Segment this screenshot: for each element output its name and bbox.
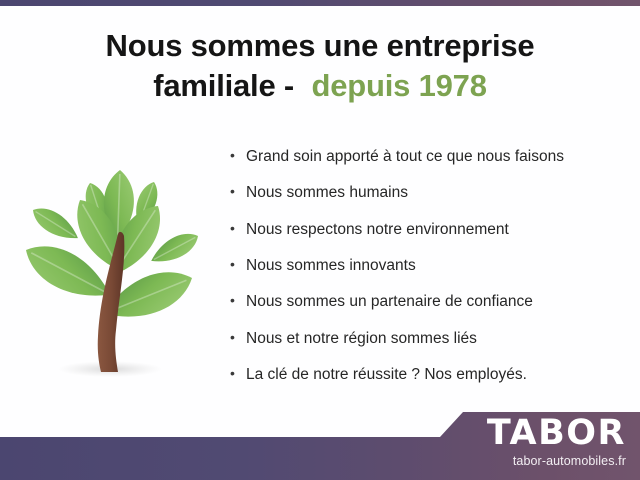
page-title-line2-plain: familiale -: [153, 68, 302, 103]
page-title-line2: familiale - depuis 1978: [0, 66, 640, 106]
footer-bar: TABOR tabor-automobiles.fr: [0, 410, 640, 480]
list-item: Nous sommes un partenaire de confiance: [228, 293, 628, 311]
list-item: La clé de notre réussite ? Nos employés.: [228, 366, 628, 384]
list-item: Grand soin apporté à tout ce que nous fa…: [228, 148, 628, 166]
list-item: Nous respectons notre environnement: [228, 221, 628, 239]
page-title: Nous sommes une entreprise familiale - d…: [0, 26, 640, 105]
brand-website: tabor-automobiles.fr: [426, 455, 626, 468]
list-item: Nous sommes innovants: [228, 257, 628, 275]
list-item: Nous sommes humains: [228, 184, 628, 202]
tree-svg: [10, 138, 220, 390]
top-accent-bar: [0, 0, 640, 6]
page-title-line1: Nous sommes une entreprise: [106, 28, 535, 63]
page-title-accent: depuis 1978: [311, 68, 486, 103]
family-tree-illustration: [10, 138, 220, 390]
slide-root: Nous sommes une entreprise familiale - d…: [0, 0, 640, 480]
brand-wordmark: TABOR: [426, 416, 626, 451]
list-item: Nous et notre région sommes liés: [228, 330, 628, 348]
value-proposition-list: Grand soin apporté à tout ce que nous fa…: [228, 148, 628, 402]
brand-logo[interactable]: TABOR tabor-automobiles.fr: [426, 416, 626, 468]
